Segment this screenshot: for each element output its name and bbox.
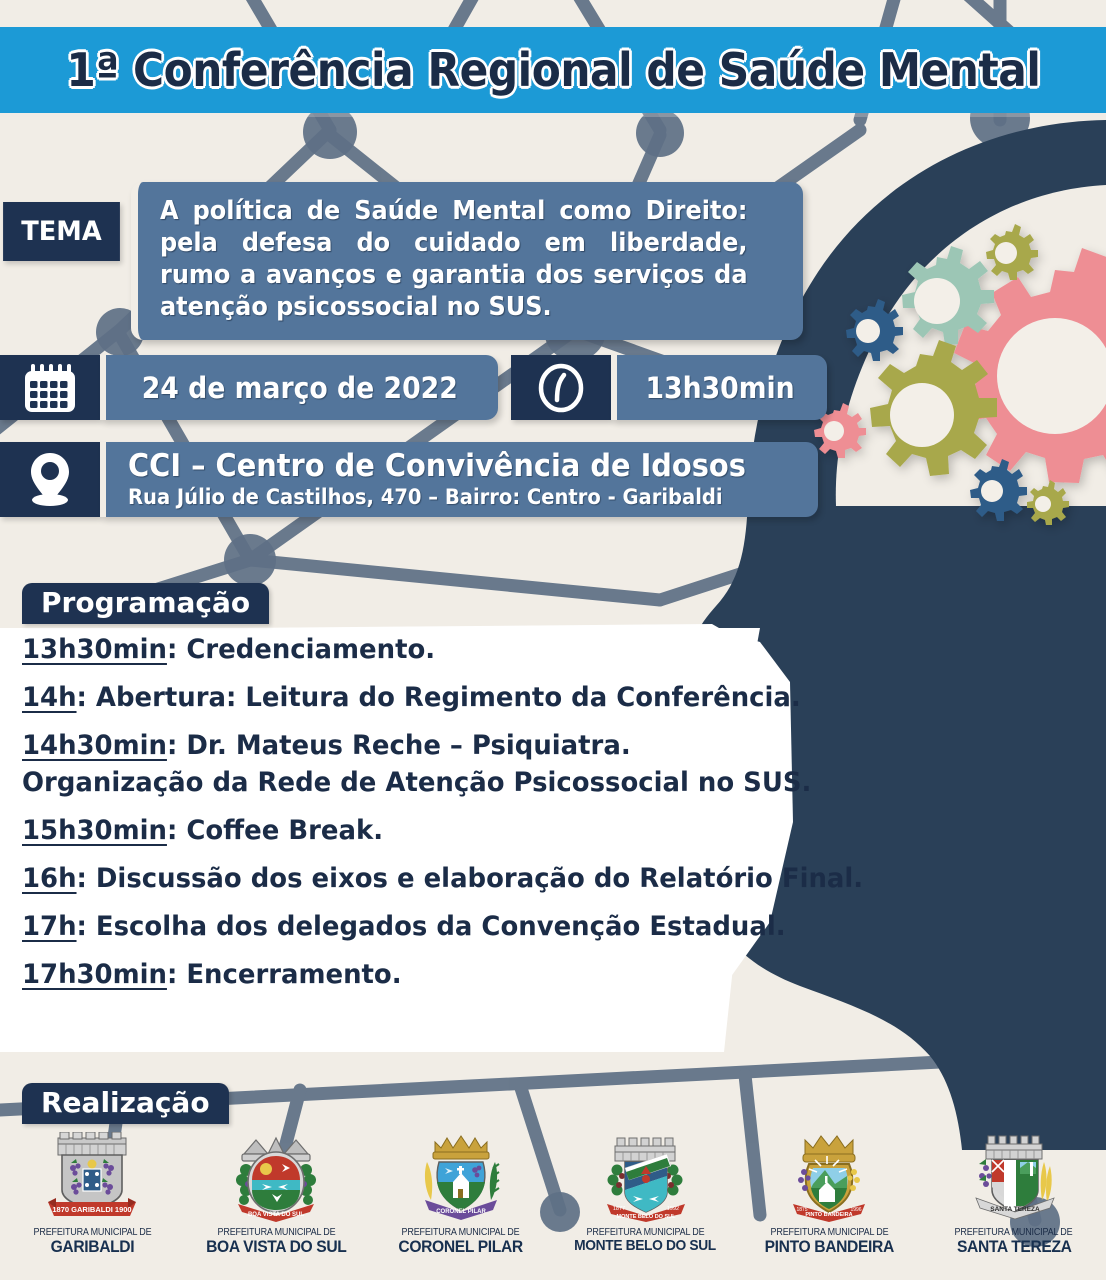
schedule-time: 15h30min [22, 815, 167, 846]
crest-garibaldi-icon: 1870 GARIBALDI 1900 [40, 1128, 144, 1224]
meta-gap [498, 355, 511, 420]
schedule-time: 14h30min [22, 730, 167, 761]
logo-city-name: MONTE BELO DO SUL [574, 1238, 716, 1254]
crest-pinto-bandeira-icon: 1875 1996 PINTO BANDEIRA [777, 1128, 881, 1224]
date-time-row: 24 de março de 2022 13h30min [0, 355, 827, 420]
crest-coronel-pilar-icon: CORONEL PILAR [409, 1128, 513, 1224]
svg-text:1877: 1877 [613, 1206, 625, 1212]
schedule-item: 14h30min: Dr. Mateus Reche – Psiquiatra. [22, 730, 694, 761]
schedule-text: : Leitura do Regimento da Conferência. [226, 682, 801, 713]
schedule-list: 13h30min: Credenciamento. 14h: Abertura:… [22, 634, 722, 1007]
schedule-item: 14h: Abertura: Leitura do Regimento da C… [22, 682, 694, 713]
schedule-sep: : [167, 959, 186, 990]
tema-section: TEMA A política de Saúde Mental como Dir… [0, 182, 803, 340]
logo-item: 1877 1992 MONTE BELO DO SUL PREFEITURA M… [557, 1128, 733, 1254]
schedule-item: 17h30min: Encerramento. [22, 959, 694, 990]
schedule-sep: : [167, 730, 186, 761]
event-time-box: 13h30min [611, 355, 827, 420]
schedule-item: 13h30min: Credenciamento. [22, 634, 694, 665]
crest-ribbon-text: MONTE BELO DO SUL [617, 1214, 677, 1220]
crest-ribbon-text: 1870 GARIBALDI 1900 [53, 1205, 132, 1214]
logo-item: CORONEL PILAR PREFEITURA MUNICIPAL DE CO… [373, 1128, 549, 1256]
event-date: 24 de março de 2022 [142, 371, 458, 405]
schedule-sep: : [77, 863, 96, 894]
municipality-logos-row: 1870 GARIBALDI 1900 PREFEITURA MUNICIPAL… [0, 1128, 1106, 1280]
venue-address: Rua Júlio de Castilhos, 470 – Bairro: Ce… [128, 485, 746, 509]
tab-programacao: Programação [22, 583, 269, 624]
crest-boa-vista-do-sul-icon: BOA VISTA DO SUL [224, 1128, 328, 1224]
schedule-sep: : [77, 911, 96, 942]
schedule-time: 17h [22, 911, 77, 942]
crest-ribbon-text: PINTO BANDEIRA [806, 1212, 853, 1218]
logo-item: SANTA TEREZA PREFEITURA MUNICIPAL DE SAN… [926, 1128, 1102, 1256]
logo-city-name: PINTO BANDEIRA [765, 1238, 894, 1256]
schedule-time: 17h30min [22, 959, 167, 990]
event-time: 13h30min [645, 371, 794, 405]
crest-ribbon-text: CORONEL PILAR [436, 1209, 486, 1215]
calendar-icon [0, 355, 100, 420]
schedule-text: Dr. Mateus Reche – Psiquiatra. [186, 730, 630, 761]
schedule-text: Credenciamento. [186, 634, 435, 665]
svg-text:1992: 1992 [667, 1206, 679, 1212]
location-box: CCI – Centro de Convivência de Idosos Ru… [100, 442, 818, 517]
schedule-sep: : [167, 815, 186, 846]
event-date-box: 24 de março de 2022 [100, 355, 498, 420]
schedule-time: 16h [22, 863, 77, 894]
schedule-item: 17h: Escolha dos delegados da Convenção … [22, 911, 694, 942]
schedule-text: Coffee Break. [186, 815, 383, 846]
venue-name: CCI – Centro de Convivência de Idosos [128, 448, 746, 484]
schedule-time: 13h30min [22, 634, 167, 665]
logo-item: 1875 1996 PINTO BANDEIRA PREFEITURA MUNI… [741, 1128, 917, 1256]
tema-label: TEMA [3, 202, 120, 261]
tab-realizacao: Realização [22, 1083, 229, 1124]
schedule-item: 15h30min: Coffee Break. [22, 815, 694, 846]
tema-box: A política de Saúde Mental como Direito:… [131, 182, 803, 340]
crest-ribbon-text: BOA VISTA DO SUL [248, 1212, 304, 1218]
schedule-text: Discussão dos eixos e elaboração do Rela… [96, 863, 863, 894]
logo-city-name: BOA VISTA DO SUL [206, 1238, 346, 1256]
clock-icon [511, 355, 611, 420]
schedule-item: 16h: Discussão dos eixos e elaboração do… [22, 863, 694, 894]
crest-monte-belo-do-sul-icon: 1877 1992 MONTE BELO DO SUL [593, 1128, 697, 1224]
schedule-text: Escolha dos delegados da Convenção Estad… [96, 911, 786, 942]
schedule-sep: : [167, 634, 186, 665]
crest-ribbon-text: SANTA TEREZA [990, 1206, 1040, 1213]
logo-item: BOA VISTA DO SUL PREFEITURA MUNICIPAL DE… [188, 1128, 364, 1256]
map-pin-icon [0, 442, 100, 517]
logo-item: 1870 GARIBALDI 1900 PREFEITURA MUNICIPAL… [4, 1128, 180, 1256]
schedule-subline: Organização da Rede de Atenção Psicossoc… [22, 767, 694, 798]
poster-root: 1ª Conferência Regional de Saúde Mental … [0, 0, 1106, 1280]
schedule-sep: : [77, 682, 96, 713]
logo-city-name: CORONEL PILAR [399, 1238, 523, 1256]
crest-santa-tereza-icon: SANTA TEREZA [962, 1128, 1066, 1224]
tema-text: A política de Saúde Mental como Direito:… [160, 195, 748, 324]
schedule-text: Encerramento. [186, 959, 401, 990]
location-row: CCI – Centro de Convivência de Idosos Ru… [0, 442, 818, 517]
schedule-lead: Abertura [96, 682, 226, 713]
logo-city-name: SANTA TEREZA [956, 1238, 1071, 1256]
schedule-time: 14h [22, 682, 77, 713]
logo-city-name: GARIBALDI [50, 1238, 134, 1256]
title-banner: 1ª Conferência Regional de Saúde Mental [0, 27, 1106, 113]
page-title: 1ª Conferência Regional de Saúde Mental [66, 47, 1040, 93]
